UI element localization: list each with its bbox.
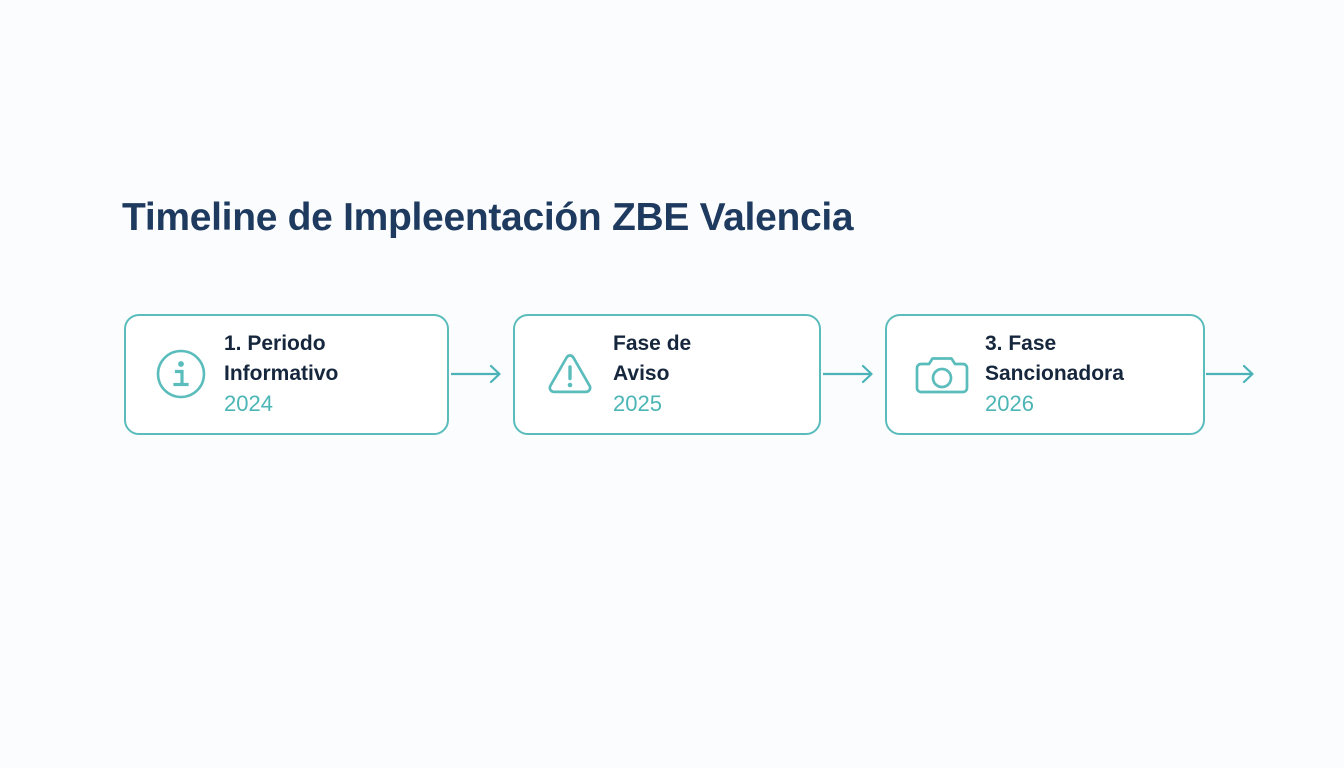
timeline-step-3-text: 3. Fase Sancionadora 2026: [985, 329, 1124, 418]
page-title: Timeline de Impleentación ZBE Valencia: [122, 196, 853, 240]
timeline-step-2-text: Fase de Aviso 2025: [613, 329, 691, 418]
timeline-diagram: 1. Periodo Informativo 2024 Fase de Avis…: [124, 313, 1274, 435]
timeline-step-2-label: Fase de Aviso: [613, 329, 691, 389]
timeline-step-1[interactable]: 1. Periodo Informativo 2024: [124, 314, 449, 435]
timeline-step-3-year: 2026: [985, 390, 1124, 419]
timeline-step-1-label: 1. Periodo Informativo: [224, 329, 338, 389]
timeline-step-1-text: 1. Periodo Informativo 2024: [224, 329, 338, 418]
timeline-step-2-year: 2025: [613, 390, 691, 419]
timeline-step-2[interactable]: Fase de Aviso 2025: [513, 314, 821, 435]
warning-triangle-icon: [541, 345, 599, 403]
info-circle-icon: [152, 345, 210, 403]
timeline-connector-2: [821, 363, 885, 385]
timeline-step-3[interactable]: 3. Fase Sancionadora 2026: [885, 314, 1205, 435]
timeline-connector-1: [449, 363, 513, 385]
camera-icon: [913, 345, 971, 403]
timeline-step-3-label: 3. Fase Sancionadora: [985, 329, 1124, 389]
timeline-step-1-year: 2024: [224, 390, 338, 419]
timeline-connector-3: [1205, 363, 1263, 385]
